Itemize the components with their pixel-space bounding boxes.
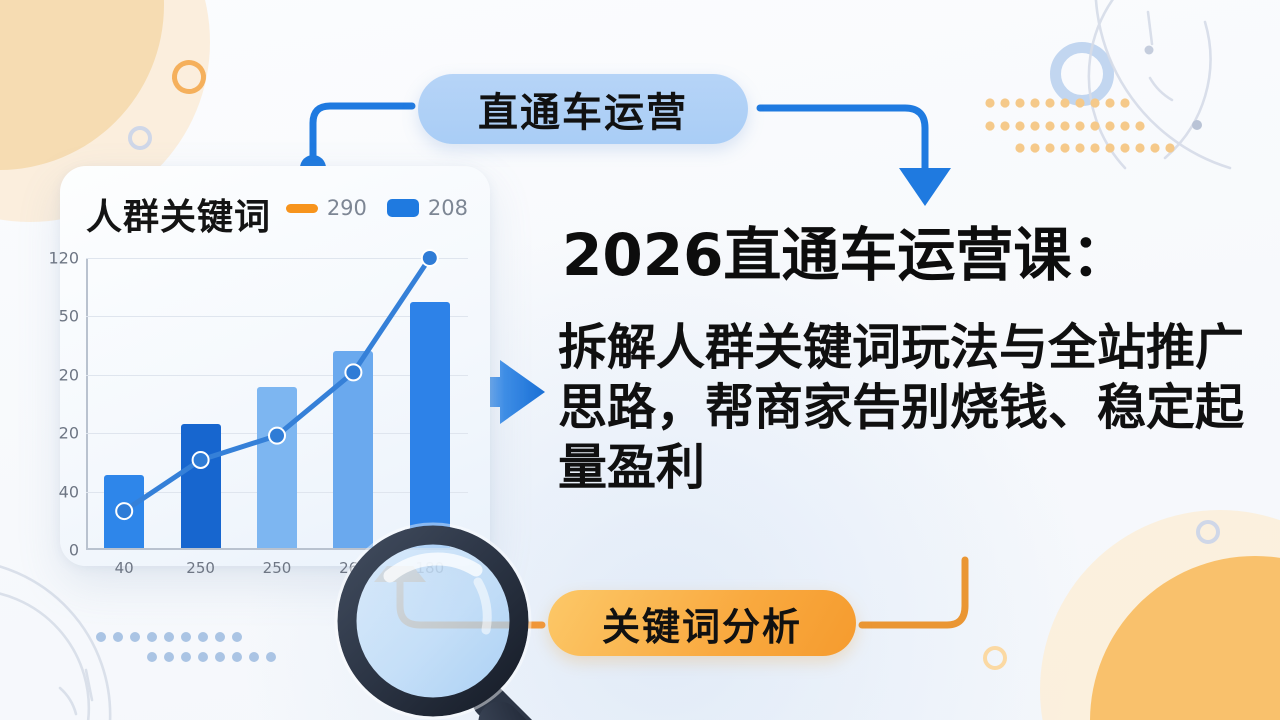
- chart-line: [124, 258, 430, 511]
- chart-line-point: [269, 428, 285, 444]
- chart-y-tick: 50: [59, 307, 79, 326]
- chart-title: 人群关键词: [86, 188, 271, 240]
- legend-label-bar: 208: [428, 196, 468, 220]
- legend-swatch-box-icon: [387, 199, 419, 217]
- chart-x-tick: 250: [263, 559, 292, 577]
- chart-x-tick: 250: [186, 559, 215, 577]
- chart-plot-area: 120502020400 40250250260180: [86, 258, 468, 550]
- chart-y-tick: 20: [59, 365, 79, 384]
- legend-item-bar: 208: [387, 196, 468, 220]
- chart-y-tick: 120: [48, 249, 79, 268]
- chart-line-point: [345, 364, 361, 380]
- body-copy: 拆解人群关键词玩法与全站推广思路，帮商家告别烧钱、稳定起量盈利: [558, 318, 1248, 497]
- page-title: 2026直通车运营课：: [562, 208, 1129, 292]
- magnifier-icon: [328, 518, 578, 720]
- chart-line-point: [193, 452, 209, 468]
- chart-line-point: [116, 503, 132, 519]
- chart-y-tick: 0: [69, 541, 79, 560]
- chart-x-tick: 40: [115, 559, 134, 577]
- legend-item-line: 290: [286, 196, 367, 220]
- chart-line-point: [422, 250, 438, 266]
- legend-label-line: 290: [327, 196, 367, 220]
- chart-y-tick: 20: [59, 424, 79, 443]
- badge-bottom[interactable]: 关键词分析: [548, 590, 856, 656]
- chart-line-series: [86, 258, 468, 550]
- chart-legend: 290 208: [286, 196, 468, 220]
- legend-swatch-line-icon: [286, 204, 318, 213]
- chart-y-tick: 40: [59, 482, 79, 501]
- poster-canvas: 人群关键词 290 208 120502020400 4025025026018…: [0, 0, 1280, 720]
- badge-top[interactable]: 直通车运营: [418, 74, 748, 144]
- chart-card: 人群关键词 290 208 120502020400 4025025026018…: [60, 166, 490, 566]
